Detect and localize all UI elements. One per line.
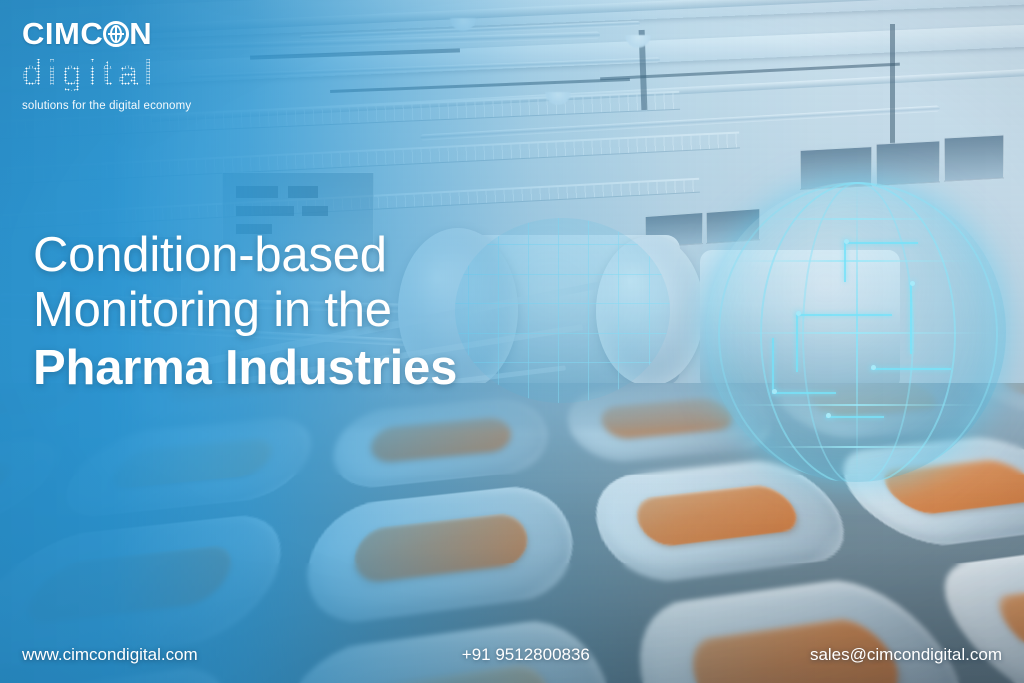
headline-line-2: Monitoring in the <box>33 283 457 338</box>
headline-line-3: Pharma Industries <box>33 341 457 396</box>
page-title: Condition-based Monitoring in the Pharma… <box>33 228 457 396</box>
cimcon-digital-logo[interactable]: CIMC N digital solutions for the digital… <box>22 18 222 112</box>
marketing-banner: CIMC N digital solutions for the digital… <box>0 0 1024 683</box>
contact-footer: www.cimcondigital.com +91 9512800836 sal… <box>0 627 1024 683</box>
footer-website[interactable]: www.cimcondigital.com <box>22 645 198 665</box>
globe-icon <box>103 21 129 47</box>
logo-n-text: N <box>129 18 152 49</box>
logo-cimc-text: CIMC <box>22 18 103 49</box>
footer-email[interactable]: sales@cimcondigital.com <box>810 645 1002 665</box>
logo-digital-text: digital <box>22 55 222 91</box>
logo-wordmark: CIMC N <box>22 18 222 49</box>
logo-tagline: solutions for the digital economy <box>22 100 222 112</box>
footer-phone[interactable]: +91 9512800836 <box>462 645 590 665</box>
headline-line-1: Condition-based <box>33 228 457 283</box>
